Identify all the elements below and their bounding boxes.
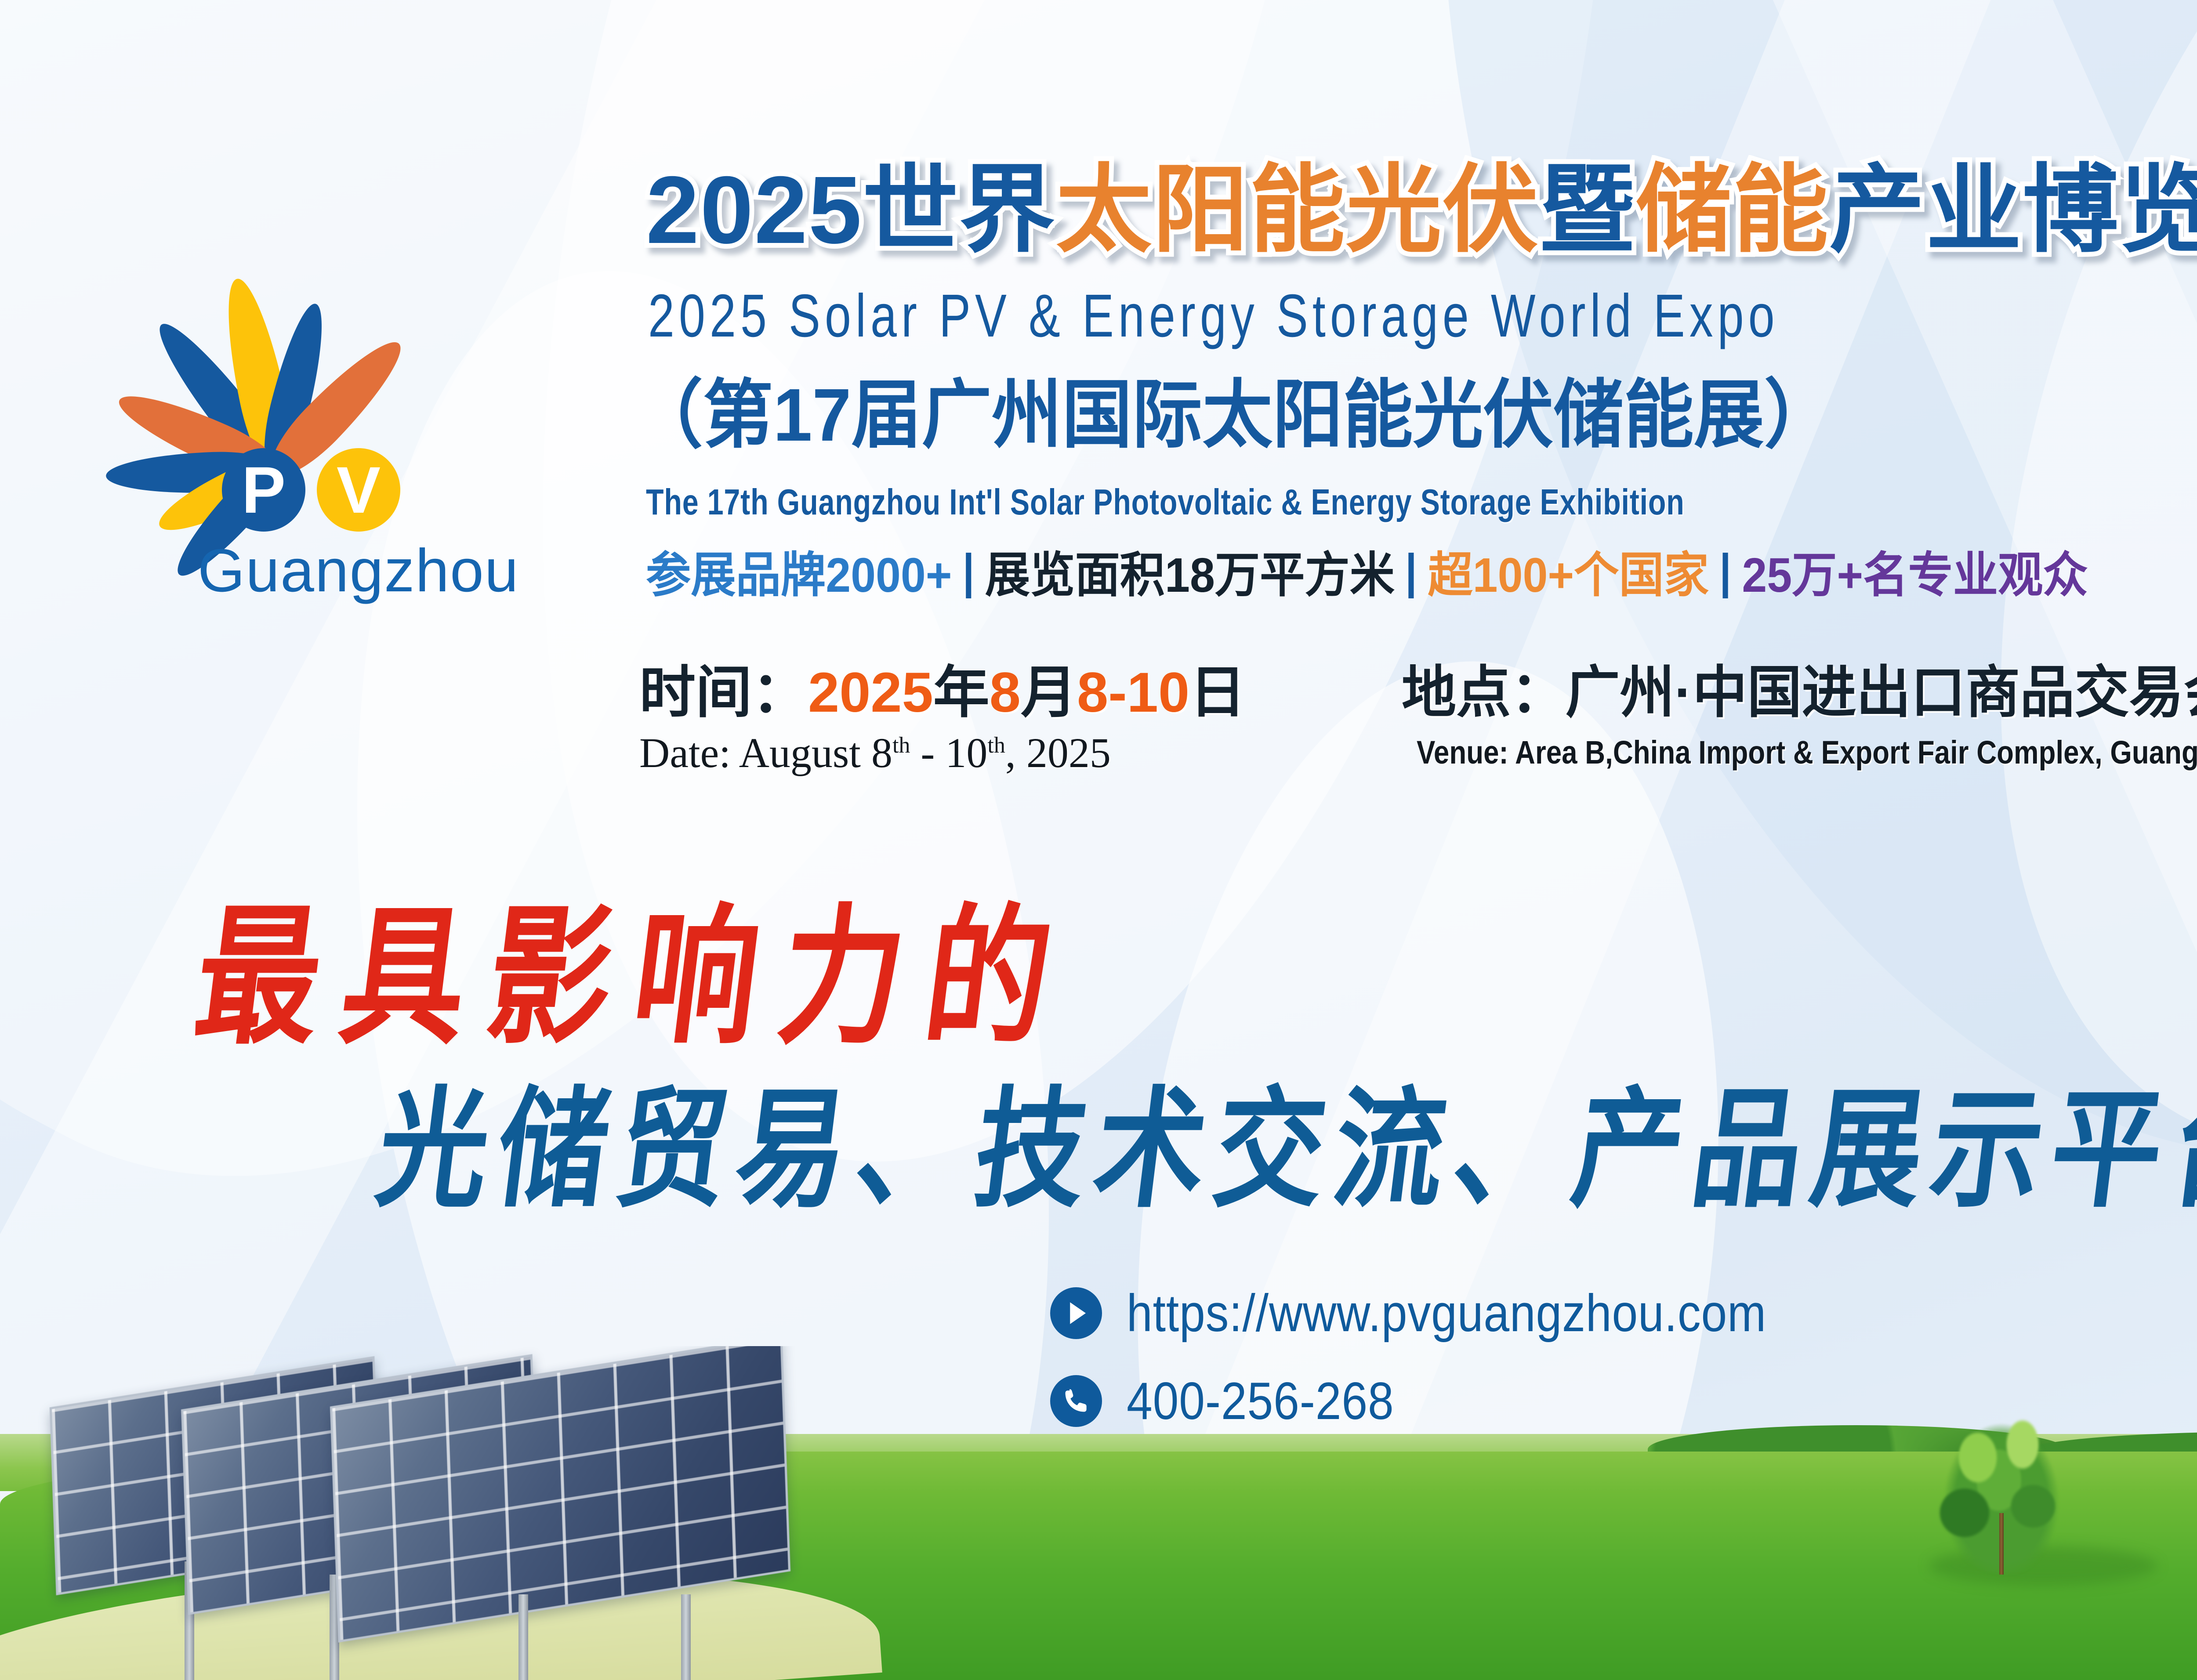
title-segment-4: 储能 xyxy=(1636,157,1829,264)
stat-separator-2 xyxy=(1409,553,1414,598)
stats-row: 参展品牌2000+ 展览面积18万平方米 超100+个国家 25万+名专业观众 xyxy=(646,551,2088,600)
title-segment-1: 2025世界 xyxy=(646,157,1056,264)
date-en-suffix: , 2025 xyxy=(1005,729,1111,776)
venue-cn: 地点：广州·中国进出口商品交易会展馆B区 xyxy=(1402,663,2197,722)
subtitle-en: The 17th Guangzhou Int'l Solar Photovolt… xyxy=(646,481,1685,523)
title-segment-2: 太阳能光伏 xyxy=(1056,157,1539,264)
solar-panel-front xyxy=(334,1370,787,1608)
stat-separator-1 xyxy=(966,553,971,598)
venue-en: Venue: Area B,China Import & Export Fair… xyxy=(1417,734,2197,771)
tree-left xyxy=(1929,1386,2074,1575)
stat-brands: 参展品牌2000+ xyxy=(646,551,952,600)
date-en: Date: August 8th - 10th, 2025 xyxy=(639,728,1246,777)
slogan-line-2: 光储贸易、技术交流、产品展示平台！ xyxy=(371,1085,2197,1215)
page-title-cn: 2025世界太阳能光伏暨储能产业博览会 xyxy=(646,163,2197,258)
logo-city-label: Guangzhou xyxy=(198,536,519,606)
solar-panel-array xyxy=(9,1346,975,1680)
date-cn: 时间：2025年8月8-10日 xyxy=(639,663,1246,722)
date-day-unit: 日 xyxy=(1189,661,1246,724)
website-url[interactable]: https://www.pvguangzhou.com xyxy=(1127,1283,1766,1343)
venue-name-cn: 广州·中国进出口商品交易会展馆B区 xyxy=(1565,661,2197,724)
date-en-ordinal-1: th xyxy=(892,733,910,758)
subtitle-cn: （第17届广州国际太阳能光伏储能展） xyxy=(633,378,1834,453)
logo-letter-p: P xyxy=(222,448,305,532)
venue-label-cn: 地点： xyxy=(1402,661,1565,724)
phone-icon xyxy=(1050,1375,1102,1427)
logo-letter-v: V xyxy=(317,448,400,532)
pv-guangzhou-logo: P V Guangzhou xyxy=(53,171,571,637)
venue-block: 地点：广州·中国进出口商品交易会展馆B区 Venue: Area B,China… xyxy=(1402,663,2197,771)
date-month-unit: 月 xyxy=(1021,661,1077,724)
contact-block: https://www.pvguangzhou.com 400-256-268 xyxy=(1050,1283,1854,1459)
title-segment-3: 暨 xyxy=(1539,157,1636,264)
date-month: 8 xyxy=(990,661,1021,724)
date-days: 8-10 xyxy=(1077,661,1189,724)
date-block: 时间：2025年8月8-10日 Date: August 8th - 10th,… xyxy=(639,663,1246,777)
date-en-ordinal-2: th xyxy=(987,733,1005,758)
pv-monogram: P V xyxy=(222,448,400,532)
phone-row[interactable]: 400-256-268 xyxy=(1050,1371,1854,1431)
page-title-en: 2025 Solar PV & Energy Storage World Exp… xyxy=(648,286,1779,346)
date-year-unit: 年 xyxy=(933,661,990,724)
date-en-prefix: Date: August 8 xyxy=(639,729,892,776)
date-year: 2025 xyxy=(808,661,933,724)
stat-separator-3 xyxy=(1723,553,1728,598)
slogan-line-1: 最具影响力的 xyxy=(188,903,1082,1053)
date-label-cn: 时间： xyxy=(639,661,808,724)
stat-visitors: 25万+名专业观众 xyxy=(1742,551,2088,600)
stat-countries: 超100+个国家 xyxy=(1428,551,1709,600)
stat-area: 展览面积18万平方米 xyxy=(985,551,1395,600)
title-segment-5: 产业博览会 xyxy=(1829,157,2197,264)
date-en-mid: - 10 xyxy=(910,729,987,776)
phone-number[interactable]: 400-256-268 xyxy=(1127,1371,1394,1431)
play-arrow-icon xyxy=(1050,1287,1102,1339)
website-row[interactable]: https://www.pvguangzhou.com xyxy=(1050,1283,1854,1343)
